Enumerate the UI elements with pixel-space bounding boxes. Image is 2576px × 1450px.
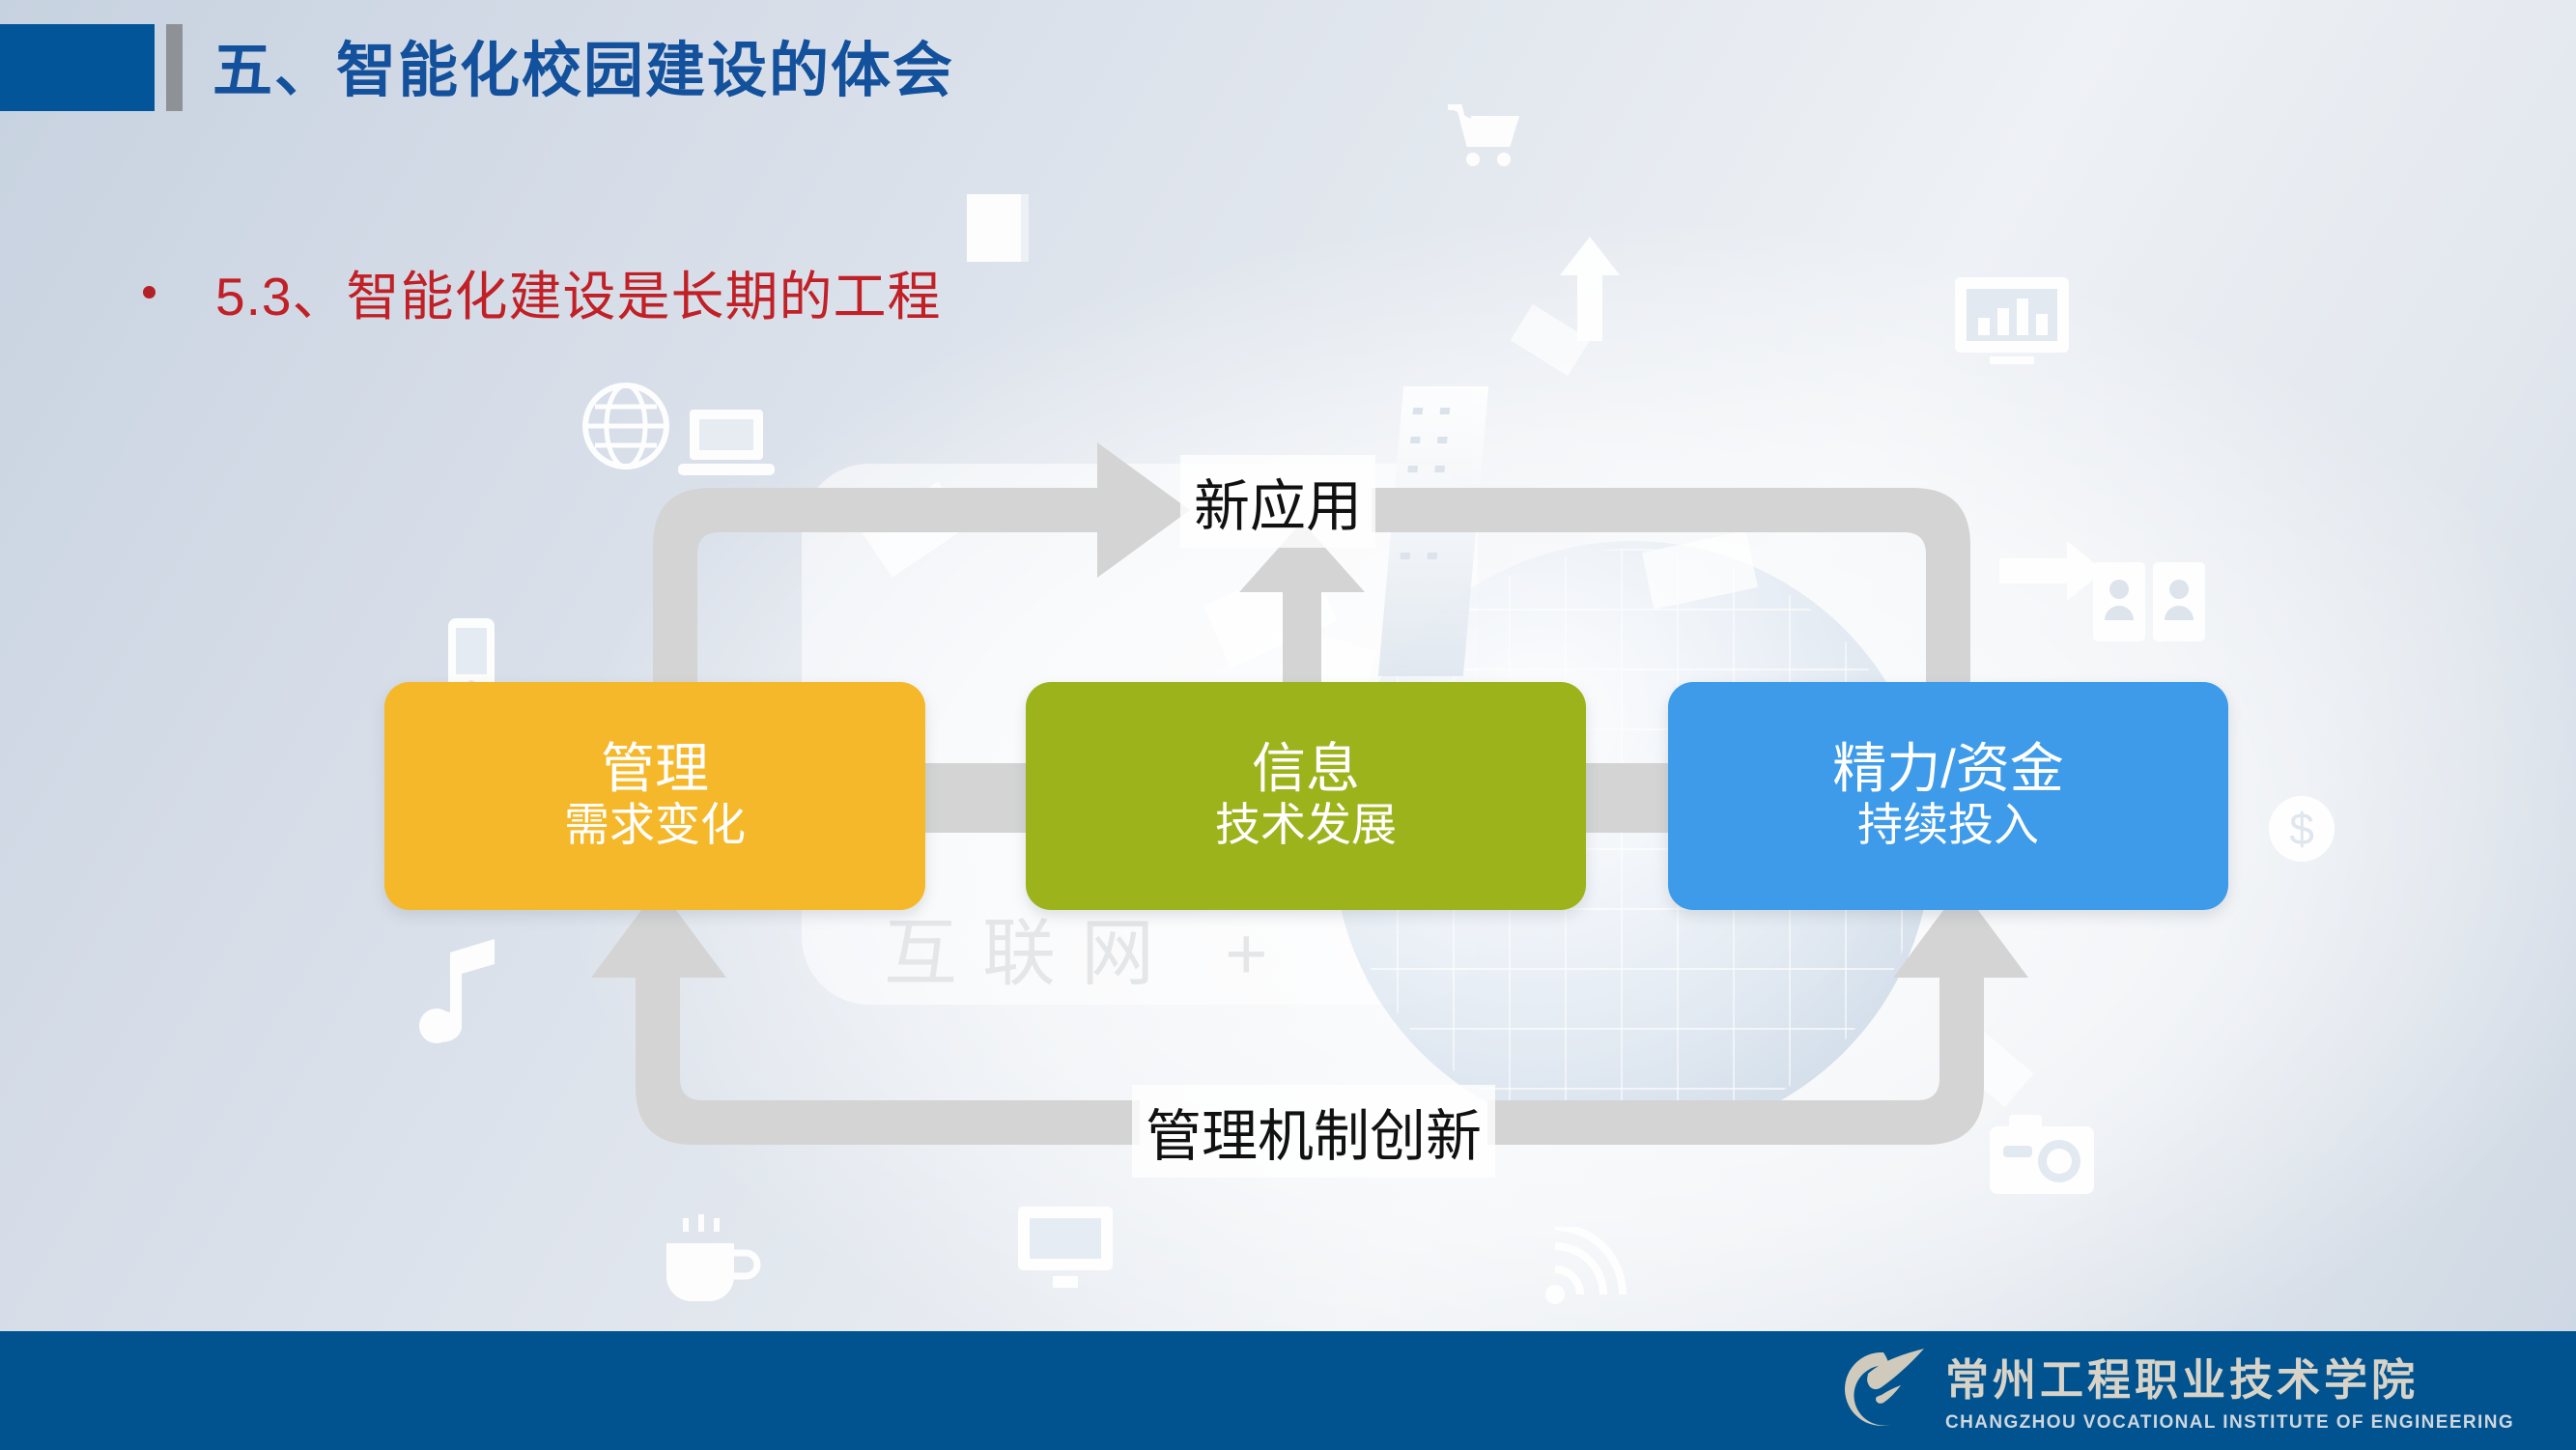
box-manage-line1: 管理 xyxy=(601,741,709,796)
box-manage[interactable]: 管理 需求变化 xyxy=(384,682,925,910)
label-new-application: 新应用 xyxy=(1180,455,1375,548)
cycle-diagram: 管理 需求变化 信息 技术发展 精力/资金 持续投入 新应用 管理机制创新 xyxy=(0,0,2576,1450)
slide-canvas: 互联网 + xyxy=(0,0,2576,1450)
label-management-innovation: 管理机制创新 xyxy=(1132,1085,1495,1178)
box-fund-line1: 精力/资金 xyxy=(1832,741,2064,796)
box-manage-line2: 需求变化 xyxy=(564,800,746,851)
box-fund-line2: 持续投入 xyxy=(1857,800,2039,851)
institution-logo: 常州工程职业技术学院 CHANGZHOU VOCATIONAL INSTITUT… xyxy=(1839,1345,2514,1434)
logo-name-cn: 常州工程职业技术学院 xyxy=(1945,1345,2514,1407)
box-fund[interactable]: 精力/资金 持续投入 xyxy=(1668,682,2228,910)
logo-mark-icon xyxy=(1839,1345,1928,1434)
logo-name-en: CHANGZHOU VOCATIONAL INSTITUTE OF ENGINE… xyxy=(1945,1412,2514,1434)
slide-footer: 常州工程职业技术学院 CHANGZHOU VOCATIONAL INSTITUT… xyxy=(0,1331,2576,1450)
box-info-line2: 技术发展 xyxy=(1215,800,1397,851)
box-info[interactable]: 信息 技术发展 xyxy=(1026,682,1586,910)
box-info-line1: 信息 xyxy=(1252,741,1360,796)
